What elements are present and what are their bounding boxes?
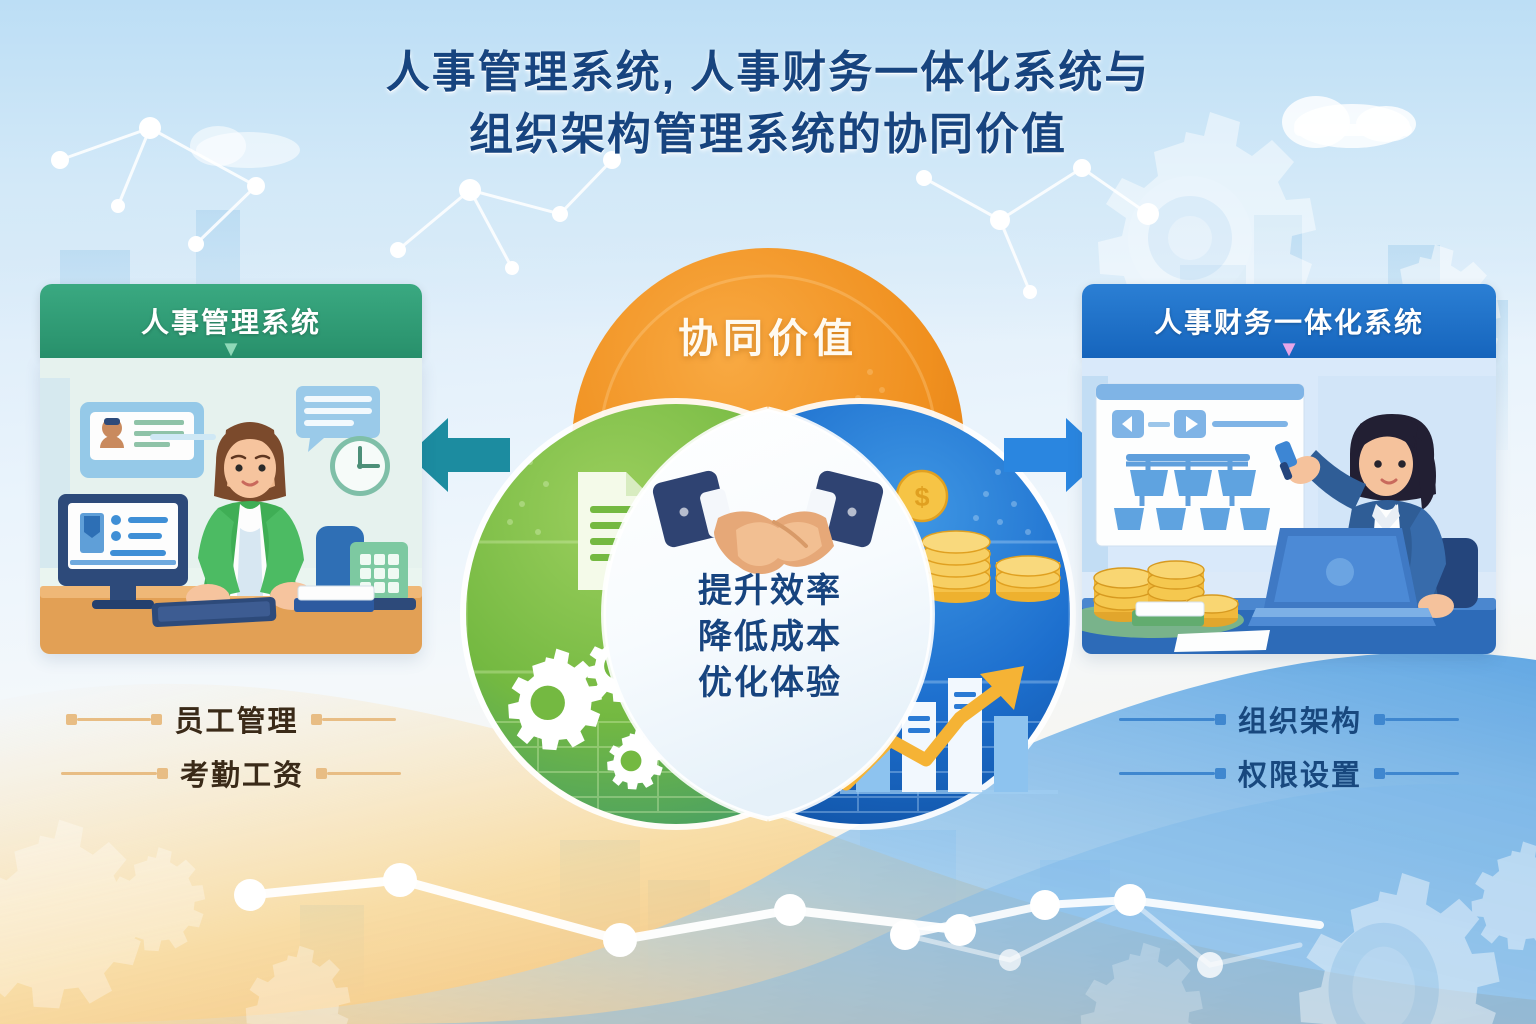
panel-hr-finance-system[interactable]: 人事财务一体化系统 ▼ — [1082, 284, 1496, 654]
feature-row: 考勤工资 — [40, 746, 422, 800]
panel-hr-title: 人事管理系统 — [141, 301, 321, 341]
infographic-canvas: 人事管理系统, 人事财务一体化系统与 组织架构管理系统的协同价值 — [0, 0, 1536, 1024]
feature-label: 员工管理 — [174, 698, 298, 740]
org-chart-board — [1096, 384, 1304, 546]
dash-left-icon — [61, 768, 168, 779]
dash-right-icon — [1374, 768, 1459, 779]
dash-left-icon — [1119, 768, 1226, 779]
svg-text:$: $ — [914, 482, 929, 512]
feature-label: 考勤工资 — [180, 752, 304, 794]
venn-diagram: $ — [418, 222, 1118, 862]
dash-left-icon — [66, 714, 162, 725]
title-line-1: 人事管理系统, 人事财务一体化系统与 — [0, 42, 1536, 104]
panel-finance-title: 人事财务一体化系统 — [1154, 301, 1424, 341]
benefit-item: 降低成本 — [654, 614, 886, 660]
benefits-list: 提升效率 降低成本 优化体验 — [654, 568, 886, 707]
page-title: 人事管理系统, 人事财务一体化系统与 组织架构管理系统的协同价值 — [0, 42, 1536, 167]
finance-manager-illustration — [1082, 358, 1496, 654]
synergy-banner-label: 协同价值 — [418, 306, 1118, 364]
feature-label: 权限设置 — [1238, 752, 1362, 794]
finance-illustration-svg — [1082, 358, 1496, 654]
benefit-item: 优化体验 — [654, 660, 886, 706]
dash-right-icon — [311, 714, 396, 725]
finance-feature-labels: 组织架构 权限设置 — [1082, 692, 1496, 800]
chevron-down-icon: ▼ — [1278, 338, 1300, 360]
feature-row: 权限设置 — [1082, 746, 1496, 800]
chevron-down-icon: ▼ — [220, 338, 242, 360]
panel-hr-header: 人事管理系统 ▼ — [40, 284, 422, 358]
feature-label: 组织架构 — [1238, 698, 1362, 740]
title-line-2: 组织架构管理系统的协同价值 — [0, 104, 1536, 166]
clock-icon — [330, 436, 390, 496]
benefit-item: 提升效率 — [654, 568, 886, 614]
panel-hr-system[interactable]: 人事管理系统 ▼ — [40, 284, 422, 654]
panel-finance-header: 人事财务一体化系统 ▼ — [1082, 284, 1496, 358]
dash-right-icon — [1374, 714, 1459, 725]
hr-feature-labels: 员工管理 考勤工资 — [40, 692, 422, 800]
employee-card-icon — [80, 402, 216, 478]
feature-row: 员工管理 — [40, 692, 422, 746]
dash-left-icon — [1119, 714, 1226, 725]
hr-illustration-svg — [40, 358, 422, 654]
dash-right-icon — [316, 768, 401, 779]
hr-officer-illustration — [40, 358, 422, 654]
books-icon — [294, 586, 374, 612]
feature-row: 组织架构 — [1082, 692, 1496, 746]
